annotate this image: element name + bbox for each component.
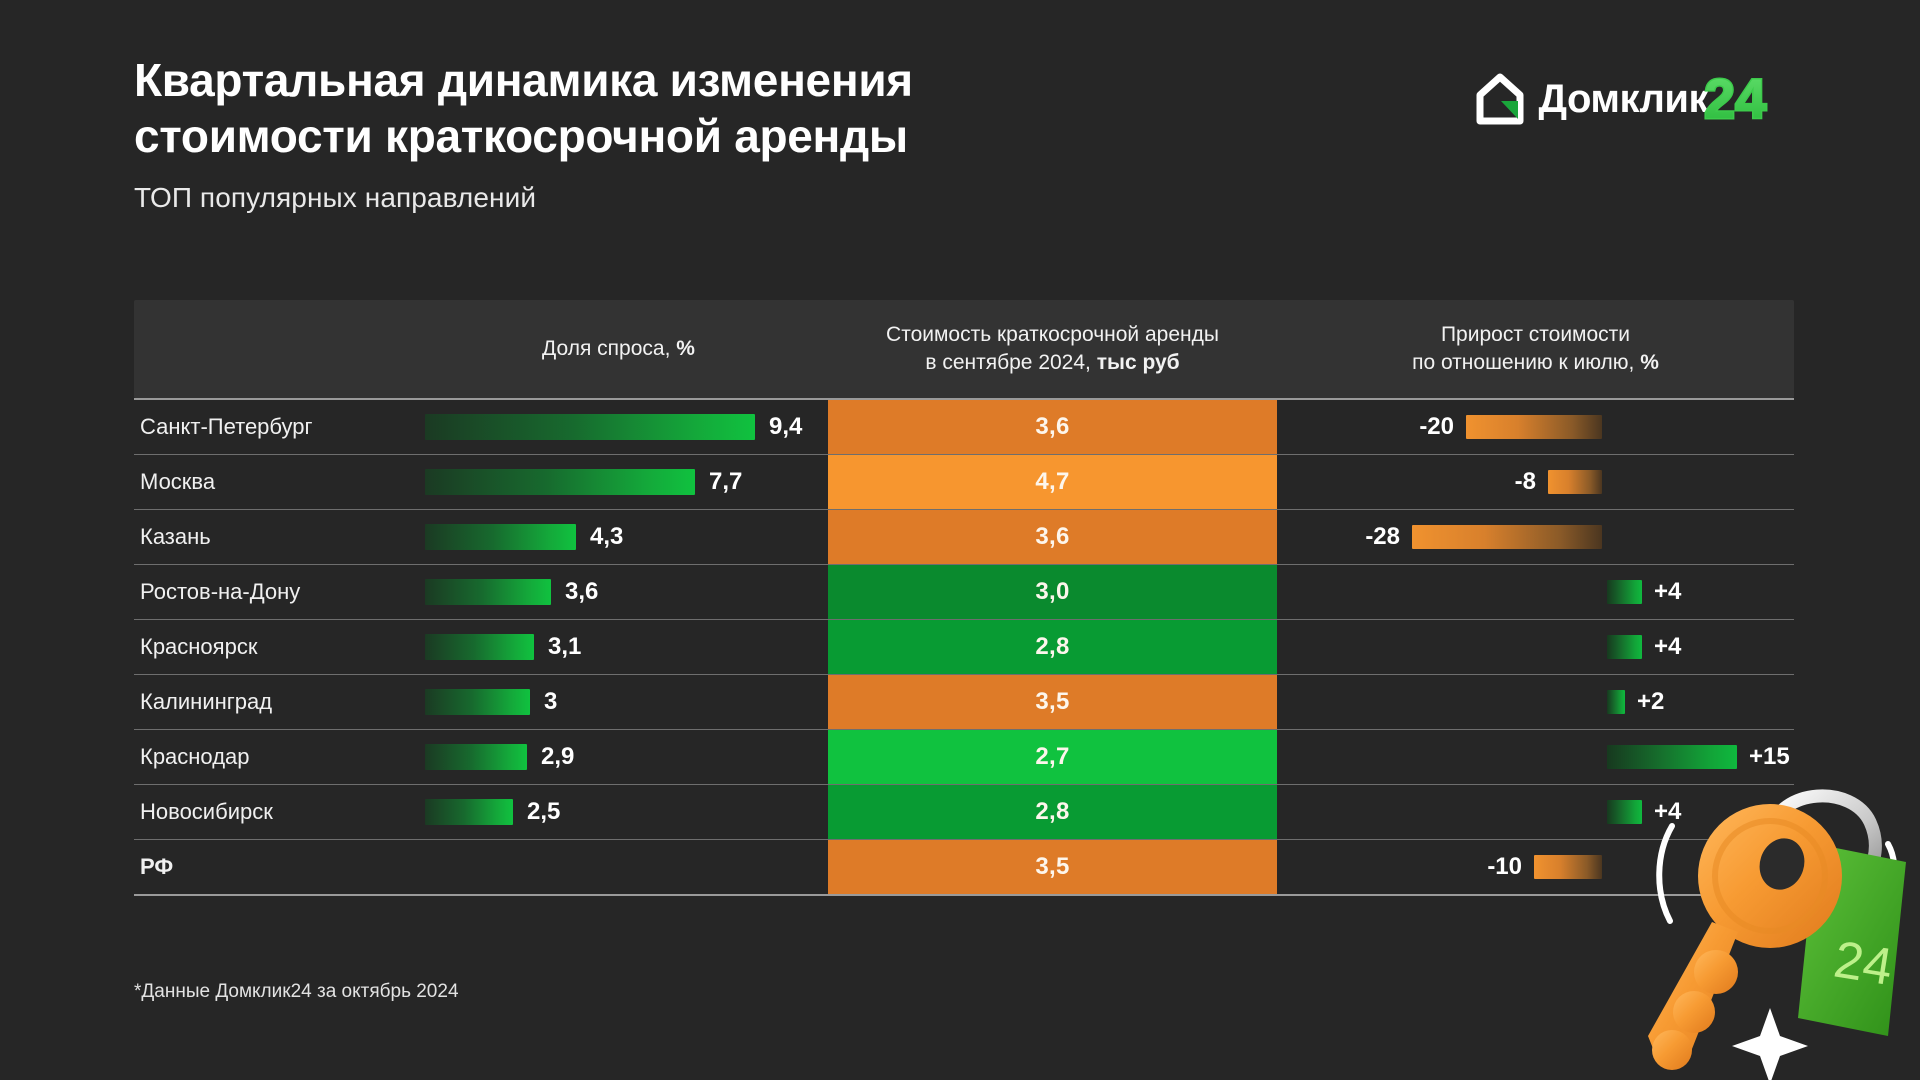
- demand-bar: [425, 799, 513, 825]
- city-label: Калининград: [134, 689, 272, 715]
- demand-bar: [425, 414, 755, 440]
- row-city: Красноярск: [134, 620, 409, 674]
- row-demand: 9,4: [409, 400, 828, 454]
- row-price: 2,7: [828, 730, 1277, 784]
- table-footer-rule: [134, 894, 1794, 896]
- price-value: 2,8: [1035, 798, 1069, 826]
- growth-value: -28: [1365, 523, 1400, 551]
- row-growth: +2: [1277, 675, 1794, 729]
- growth-value: -20: [1419, 413, 1454, 441]
- row-city: РФ: [134, 840, 409, 894]
- row-price: 3,5: [828, 840, 1277, 894]
- row-growth: -10: [1277, 840, 1794, 894]
- row-city: Ростов-на-Дону: [134, 565, 409, 619]
- growth-value: +4: [1654, 578, 1681, 606]
- row-demand: 3,1: [409, 620, 828, 674]
- demand-bar: [425, 469, 695, 495]
- growth-value: +4: [1654, 798, 1681, 826]
- growth-bar: [1607, 745, 1737, 769]
- growth-bar: [1607, 635, 1642, 659]
- city-label: Красноярск: [134, 634, 257, 660]
- growth-bar: [1607, 690, 1625, 714]
- row-growth: -20: [1277, 400, 1794, 454]
- footnote: *Данные Домклик24 за октябрь 2024: [134, 981, 459, 1003]
- row-growth: +4: [1277, 565, 1794, 619]
- header-demand: Доля спроса, %: [409, 335, 828, 363]
- key-tag-label: 24: [1830, 931, 1896, 997]
- demand-value: 3,1: [548, 633, 581, 661]
- demand-value: 2,9: [541, 743, 574, 771]
- row-demand: 2,9: [409, 730, 828, 784]
- demand-value: 9,4: [769, 413, 802, 441]
- table-row: Казань4,33,6-28: [134, 510, 1794, 564]
- city-label: РФ: [134, 854, 173, 880]
- header-growth: Прирост стоимости по отношению к июлю, %: [1277, 321, 1794, 377]
- sparkle-icon: [1732, 1008, 1808, 1080]
- demand-value: 2,5: [527, 798, 560, 826]
- demand-value: 3: [544, 688, 557, 716]
- row-demand: 2,5: [409, 785, 828, 839]
- logo-wordmark: Домклик: [1538, 77, 1708, 122]
- table-header-row: Доля спроса, % Стоимость краткосрочной а…: [134, 300, 1794, 398]
- logo-24-badge: 24: [1702, 68, 1794, 130]
- row-city: Новосибирск: [134, 785, 409, 839]
- price-value: 3,5: [1035, 688, 1069, 716]
- key-tag: 24: [1798, 844, 1906, 1036]
- row-demand: 7,7: [409, 455, 828, 509]
- city-label: Санкт-Петербург: [134, 414, 313, 440]
- row-growth: -8: [1277, 455, 1794, 509]
- motion-arc-right: [1888, 844, 1894, 886]
- house-icon: [1472, 71, 1528, 127]
- table-row: РФ3,5-10: [134, 840, 1794, 894]
- table-row: Москва7,74,7-8: [134, 455, 1794, 509]
- row-demand: 3,6: [409, 565, 828, 619]
- growth-value: -10: [1487, 853, 1522, 881]
- header: Квартальная динамика изменения стоимости…: [134, 52, 1794, 242]
- price-value: 2,7: [1035, 743, 1069, 771]
- growth-bar: [1607, 800, 1642, 824]
- price-value: 3,0: [1035, 578, 1069, 606]
- table-row: Ростов-на-Дону3,63,0+4: [134, 565, 1794, 619]
- row-city: Краснодар: [134, 730, 409, 784]
- price-value: 3,5: [1035, 853, 1069, 881]
- row-price: 2,8: [828, 620, 1277, 674]
- demand-bar: [425, 579, 551, 605]
- growth-bar: [1412, 525, 1602, 549]
- demand-bar: [425, 634, 534, 660]
- header-price: Стоимость краткосрочной аренды в сентябр…: [828, 321, 1277, 377]
- row-demand: 4,3: [409, 510, 828, 564]
- table-row: Новосибирск2,52,8+4: [134, 785, 1794, 839]
- page-title: Квартальная динамика изменения стоимости…: [134, 52, 1254, 164]
- demand-value: 4,3: [590, 523, 623, 551]
- city-label: Казань: [134, 524, 211, 550]
- row-growth: +15: [1277, 730, 1794, 784]
- svg-text:24: 24: [1704, 68, 1766, 130]
- city-label: Ростов-на-Дону: [134, 579, 300, 605]
- row-city: Калининград: [134, 675, 409, 729]
- row-city: Санкт-Петербург: [134, 400, 409, 454]
- row-growth: -28: [1277, 510, 1794, 564]
- title-line-1: Квартальная динамика изменения: [134, 54, 913, 106]
- row-growth: +4: [1277, 785, 1794, 839]
- city-label: Новосибирск: [134, 799, 273, 825]
- row-demand: [409, 840, 828, 894]
- price-value: 3,6: [1035, 523, 1069, 551]
- table-row: Красноярск3,12,8+4: [134, 620, 1794, 674]
- growth-bar: [1466, 415, 1602, 439]
- row-price: 3,6: [828, 510, 1277, 564]
- growth-value: +15: [1749, 743, 1790, 771]
- growth-value: +2: [1637, 688, 1664, 716]
- title-line-2: стоимости краткосрочной аренды: [134, 108, 1254, 164]
- row-city: Москва: [134, 455, 409, 509]
- demand-value: 7,7: [709, 468, 742, 496]
- demand-bar: [425, 524, 576, 550]
- city-label: Москва: [134, 469, 215, 495]
- table-row: Калининград33,5+2: [134, 675, 1794, 729]
- demand-bar: [425, 744, 527, 770]
- table-body: Санкт-Петербург9,43,6-20Москва7,74,7-8Ка…: [134, 400, 1794, 894]
- row-price: 2,8: [828, 785, 1277, 839]
- price-value: 2,8: [1035, 633, 1069, 661]
- table-row: Санкт-Петербург9,43,6-20: [134, 400, 1794, 454]
- table-row: Краснодар2,92,7+15: [134, 730, 1794, 784]
- city-label: Краснодар: [134, 744, 250, 770]
- growth-value: +4: [1654, 633, 1681, 661]
- domclick-logo: Домклик 24: [1472, 64, 1794, 134]
- demand-value: 3,6: [565, 578, 598, 606]
- growth-bar: [1548, 470, 1602, 494]
- page-subtitle: ТОП популярных направлений: [134, 182, 1794, 214]
- row-price: 3,6: [828, 400, 1277, 454]
- row-city: Казань: [134, 510, 409, 564]
- row-demand: 3: [409, 675, 828, 729]
- price-value: 4,7: [1035, 468, 1069, 496]
- growth-bar: [1534, 855, 1602, 879]
- growth-bar: [1607, 580, 1642, 604]
- row-growth: +4: [1277, 620, 1794, 674]
- price-value: 3,6: [1035, 413, 1069, 441]
- row-price: 3,5: [828, 675, 1277, 729]
- data-table: Доля спроса, % Стоимость краткосрочной а…: [134, 300, 1794, 896]
- demand-bar: [425, 689, 530, 715]
- row-price: 3,0: [828, 565, 1277, 619]
- growth-value: -8: [1515, 468, 1536, 496]
- row-price: 4,7: [828, 455, 1277, 509]
